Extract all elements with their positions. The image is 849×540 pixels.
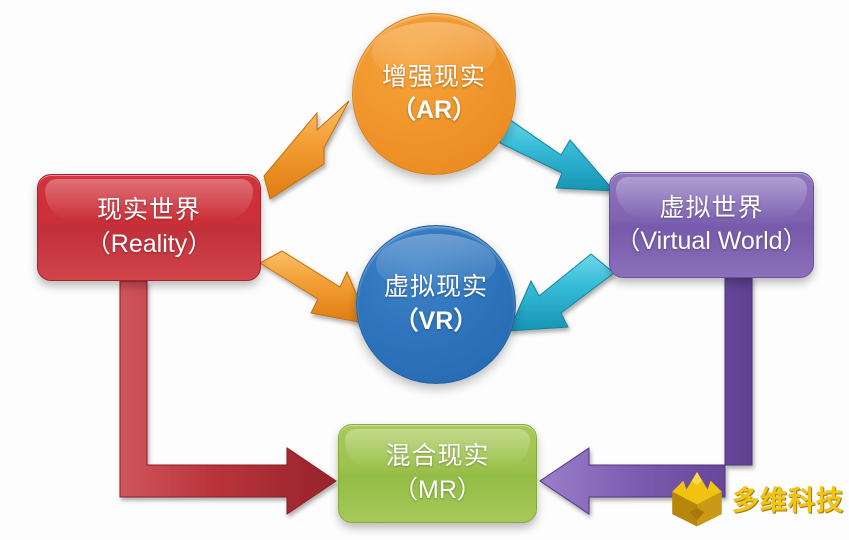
node-ar-cn: 增强现实 (382, 61, 486, 95)
node-vr-en: （VR） (384, 305, 488, 339)
node-ar-label: 增强现实 （AR） (382, 61, 486, 128)
node-ar[interactable]: 增强现实 （AR） (352, 13, 516, 175)
node-virtual-world-label: 虚拟世界 （Virtual World） (615, 192, 807, 259)
diagram-canvas: 现实世界 （Reality） 增强现实 （AR） 虚拟现实 （VR） 虚拟世界 … (0, 0, 849, 540)
arrow-ar-to-virtual (500, 117, 614, 191)
brand-logo: 多维科技 (666, 463, 844, 533)
node-reality-cn: 现实世界 (86, 194, 212, 228)
node-mr[interactable]: 混合现实 （MR） (338, 424, 537, 523)
node-mr-label: 混合现实 （MR） (385, 440, 489, 507)
node-ar-en: （AR） (382, 94, 486, 128)
node-vr-cn: 虚拟现实 (384, 271, 488, 305)
node-virtual-world-cn: 虚拟世界 (615, 192, 807, 226)
node-reality-label: 现实世界 （Reality） (86, 194, 212, 261)
node-virtual-world[interactable]: 虚拟世界 （Virtual World） (609, 172, 814, 278)
node-vr-label: 虚拟现实 （VR） (384, 271, 488, 338)
node-mr-en: （MR） (385, 474, 489, 508)
logo-text: 多维科技 (732, 479, 844, 518)
arrow-reality-to-mr (120, 281, 336, 514)
node-vr[interactable]: 虚拟现实 （VR） (356, 225, 516, 384)
arrow-virtual-to-vr (509, 254, 614, 331)
node-reality-en: （Reality） (86, 228, 212, 262)
node-mr-cn: 混合现实 (385, 440, 489, 474)
cube-crown-icon (666, 467, 728, 529)
node-virtual-world-en: （Virtual World） (615, 225, 807, 259)
arrow-reality-to-ar (264, 101, 349, 199)
node-reality[interactable]: 现实世界 （Reality） (37, 174, 261, 281)
arrow-vr-to-reality (260, 251, 369, 324)
